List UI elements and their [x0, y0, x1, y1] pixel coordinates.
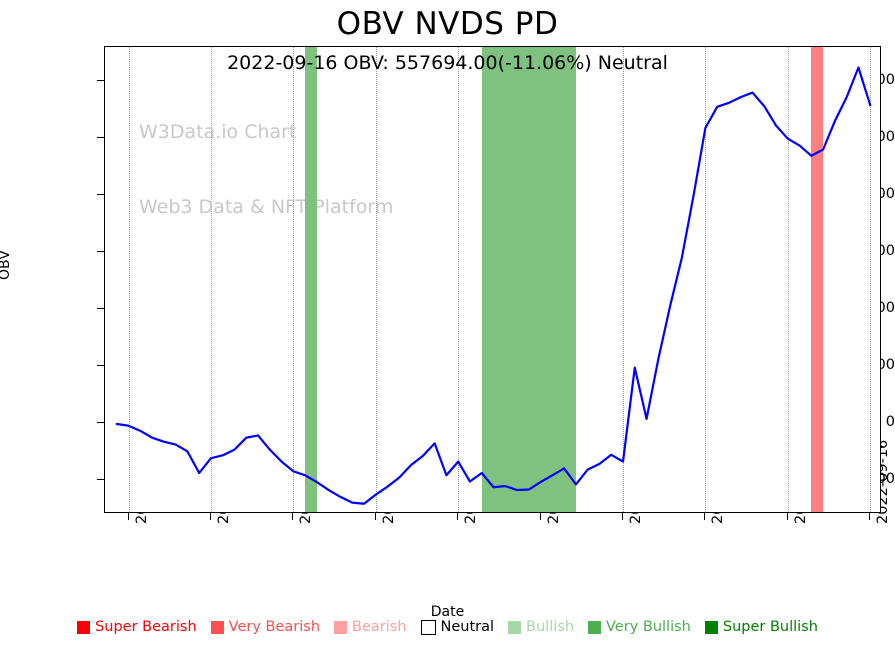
x-tick-mark [210, 513, 211, 520]
x-tick-mark [457, 513, 458, 520]
x-tick-mark [787, 513, 788, 520]
legend-item-neutral[interactable]: Neutral [414, 619, 502, 635]
plot-area [104, 46, 881, 513]
legend-swatch-icon [77, 621, 90, 634]
legend-swatch-icon [211, 621, 224, 634]
x-tick-mark [292, 513, 293, 520]
legend-label: Super Bullish [723, 619, 818, 635]
legend-item-very-bearish[interactable]: Very Bearish [204, 619, 327, 635]
y-tick-mark [97, 251, 104, 252]
legend-label: Super Bearish [95, 619, 197, 635]
legend-label: Very Bearish [229, 619, 320, 635]
legend-item-super-bullish[interactable]: Super Bullish [698, 619, 825, 635]
legend-label: Bullish [526, 619, 574, 635]
y-tick-mark [97, 365, 104, 366]
legend-item-bullish[interactable]: Bullish [501, 619, 581, 635]
legend-swatch-icon [588, 621, 601, 634]
legend-item-very-bullish[interactable]: Very Bullish [581, 619, 698, 635]
x-tick-mark [869, 513, 870, 520]
legend-swatch-icon [421, 620, 436, 635]
chart-title: OBV NVDS PD [0, 6, 895, 42]
x-tick-mark [622, 513, 623, 520]
legend-item-super-bearish[interactable]: Super Bearish [70, 619, 204, 635]
legend-label: Very Bullish [606, 619, 691, 635]
legend-swatch-icon [705, 621, 718, 634]
chart-figure: OBV NVDS PD 2022-09-16 OBV: 557694.00(-1… [0, 0, 895, 646]
legend-swatch-icon [334, 621, 347, 634]
x-tick-mark [375, 513, 376, 520]
legend-label: Neutral [441, 619, 495, 635]
obv-line-series [105, 47, 881, 513]
chart-legend: Super BearishVery BearishBearishNeutralB… [0, 619, 895, 635]
x-tick-mark [704, 513, 705, 520]
x-tick-mark [128, 513, 129, 520]
y-tick-mark [97, 80, 104, 81]
y-tick-mark [97, 308, 104, 309]
y-tick-mark [97, 137, 104, 138]
x-tick-mark [540, 513, 541, 520]
legend-label: Bearish [352, 619, 407, 635]
legend-swatch-icon [508, 621, 521, 634]
legend-item-bearish[interactable]: Bearish [327, 619, 414, 635]
x-axis-label: Date [0, 604, 895, 620]
y-axis-label: OBV [0, 250, 13, 280]
series-line [117, 68, 870, 504]
y-tick-mark [97, 479, 104, 480]
y-tick-mark [97, 194, 104, 195]
y-tick-mark [97, 422, 104, 423]
